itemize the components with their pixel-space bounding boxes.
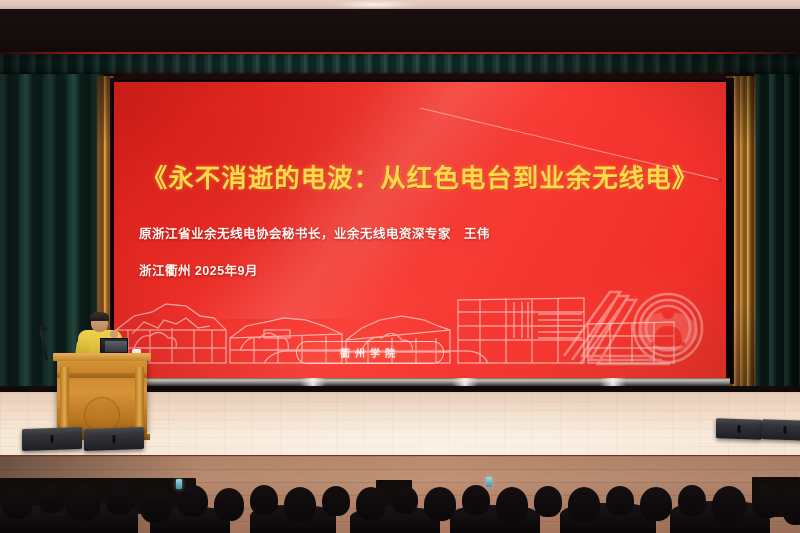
audience-head	[606, 486, 634, 515]
audience-head	[106, 485, 134, 515]
floor-monitor-speaker	[762, 419, 800, 441]
audience-head	[284, 487, 316, 522]
monitor-grill	[113, 435, 116, 443]
monitor-grill	[738, 425, 741, 433]
proscenium-header-band	[0, 9, 800, 54]
audience-head	[140, 489, 172, 523]
lectern-mid-trim	[57, 373, 147, 378]
stage-valance-curtain	[0, 54, 800, 76]
audience-head	[534, 486, 562, 517]
audience-head	[322, 486, 350, 516]
raised-phone-screen	[486, 477, 492, 487]
stage-curtain-right	[754, 74, 800, 396]
led-screen: 衢州学院 《永不消逝的电波：从红色电台到业余无线电》 原浙江省业余无线电协会秘书…	[114, 82, 726, 378]
auditorium-scene: 衢州学院 《永不消逝的电波：从红色电台到业余无线电》 原浙江省业余无线电协会秘书…	[0, 0, 800, 533]
audience-head	[782, 487, 800, 525]
monitor-grill	[51, 435, 54, 443]
slide-title: 《永不消逝的电波：从红色电台到业余无线电》	[114, 158, 726, 195]
audience-head	[178, 485, 208, 517]
audience-head	[752, 485, 782, 518]
floor-monitor-speaker	[716, 418, 762, 440]
audience-head	[250, 485, 278, 515]
audience-head	[496, 487, 528, 523]
lectern-column-left	[60, 367, 69, 433]
microphone-icon	[39, 326, 47, 331]
audience-head	[214, 488, 244, 521]
audience-head	[712, 486, 746, 524]
monitor-grill	[784, 426, 787, 434]
audience-head	[568, 487, 600, 522]
curtain-folds-right	[754, 74, 800, 396]
audience-head	[640, 487, 672, 521]
audience-head	[424, 487, 456, 521]
lectern-column-right	[135, 367, 144, 433]
audience	[0, 463, 800, 533]
presenter-hand	[110, 330, 118, 338]
audience-head	[66, 485, 100, 521]
audience-head	[392, 486, 418, 514]
audience-head	[678, 485, 706, 516]
floor-monitor-speaker	[22, 427, 82, 451]
presenter-hair	[90, 312, 109, 321]
slide-location-date: 浙江衢州 2025年9月	[139, 260, 699, 279]
floor-monitor-speaker	[84, 427, 144, 451]
slide-subtitle-speaker: 原浙江省业余无线电协会秘书长，业余无线电资深专家 王伟	[139, 223, 699, 242]
audience-head	[356, 487, 386, 520]
audience-head	[462, 485, 490, 515]
raised-phone-screen	[176, 479, 182, 489]
ceiling-light-glow	[330, 0, 420, 9]
laptop-screen	[105, 341, 127, 352]
audience-head	[2, 487, 32, 519]
lectern	[57, 357, 147, 435]
audience-head	[38, 485, 64, 513]
lectern-top-trim	[53, 353, 151, 361]
